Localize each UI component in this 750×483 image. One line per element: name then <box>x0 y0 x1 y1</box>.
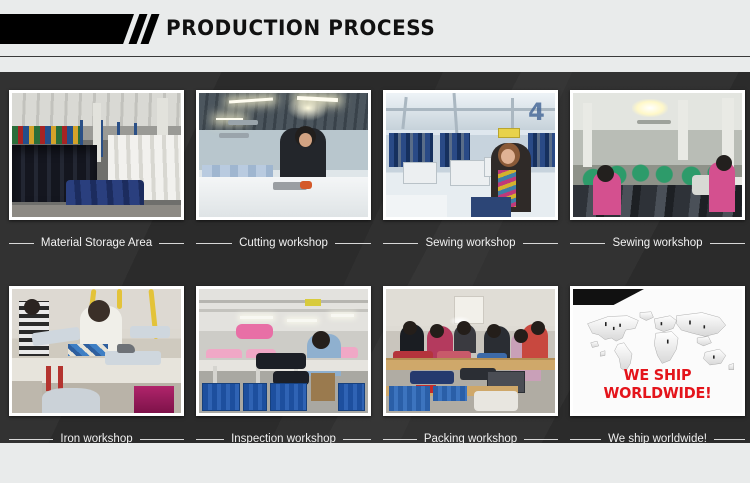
header-banner-shape <box>0 14 134 44</box>
caption-rule-right <box>343 439 371 440</box>
gallery-cell-iron-workshop[interactable]: Iron workshop <box>9 286 184 443</box>
caption-rule-right <box>140 439 184 440</box>
caption-label: Packing workshop <box>424 433 517 443</box>
corner-wedge <box>573 289 742 305</box>
caption-label: Iron workshop <box>60 433 132 443</box>
sewing-workshop-photo-1: 4 <box>386 93 555 217</box>
caption-label: Sewing workshop <box>425 237 515 249</box>
cutting-workshop-photo <box>199 93 368 217</box>
photo-frame[interactable] <box>383 286 558 416</box>
photo-frame[interactable] <box>570 90 745 220</box>
inspection-workshop-photo <box>199 289 368 413</box>
gallery-grid: Material Storage Area <box>0 72 750 443</box>
photo-frame[interactable]: WE SHIP WORLDWIDE! <box>570 286 745 416</box>
caption-rule-left <box>570 243 605 244</box>
gallery-row-2: Iron workshop <box>9 286 741 443</box>
caption-row: We ship worldwide! <box>570 425 745 443</box>
caption-rule-left <box>570 439 601 440</box>
caption-row: Cutting workshop <box>196 229 371 257</box>
material-storage-area-photo <box>12 93 181 217</box>
gallery-cell-cutting-workshop[interactable]: Cutting workshop <box>196 90 371 257</box>
caption-rule-right <box>524 439 558 440</box>
packing-workshop-photo <box>386 289 555 413</box>
caption-row: Iron workshop <box>9 425 184 443</box>
world-map-tagline: WE SHIP WORLDWIDE! <box>576 366 738 402</box>
page-header: PRODUCTION PROCESS <box>0 0 750 57</box>
gallery-cell-inspection-workshop[interactable]: Inspection workshop <box>196 286 371 443</box>
footer-spacer <box>0 443 750 483</box>
gallery-panel: Material Storage Area <box>0 72 750 443</box>
caption-label: We ship worldwide! <box>608 433 707 443</box>
caption-label: Cutting workshop <box>239 237 328 249</box>
caption-rule-right <box>714 439 745 440</box>
page-title: PRODUCTION PROCESS <box>166 13 435 43</box>
caption-rule-left <box>383 243 418 244</box>
caption-label: Sewing workshop <box>612 237 702 249</box>
header-divider <box>0 56 750 57</box>
caption-rule-right <box>710 243 745 244</box>
caption-row: Inspection workshop <box>196 425 371 443</box>
caption-label: Inspection workshop <box>231 433 336 443</box>
caption-rule-left <box>383 439 417 440</box>
gallery-row-1: Material Storage Area <box>9 90 741 257</box>
caption-rule-right <box>523 243 558 244</box>
caption-rule-left <box>196 439 224 440</box>
photo-frame[interactable] <box>9 90 184 220</box>
photo-frame[interactable]: 4 <box>383 90 558 220</box>
caption-row: Sewing workshop <box>570 229 745 257</box>
photo-frame[interactable] <box>196 90 371 220</box>
world-map-photo: WE SHIP WORLDWIDE! <box>573 289 742 413</box>
caption-rule-right <box>159 243 184 244</box>
caption-label: Material Storage Area <box>41 237 152 249</box>
caption-rule-left <box>9 243 34 244</box>
caption-row: Packing workshop <box>383 425 558 443</box>
gallery-cell-packing-workshop[interactable]: Packing workshop <box>383 286 558 443</box>
photo-frame[interactable] <box>9 286 184 416</box>
caption-rule-left <box>9 439 53 440</box>
iron-workshop-photo <box>12 289 181 413</box>
caption-row: Material Storage Area <box>9 229 184 257</box>
gallery-cell-sewing-workshop-1[interactable]: 4 Sew <box>383 90 558 257</box>
gallery-cell-material-storage[interactable]: Material Storage Area <box>9 90 184 257</box>
gallery-cell-we-ship-worldwide[interactable]: WE SHIP WORLDWIDE! We ship worldwide! <box>570 286 745 443</box>
sewing-workshop-photo-2 <box>573 93 742 217</box>
production-process-page: PRODUCTION PROCESS <box>0 0 750 483</box>
gallery-cell-sewing-workshop-2[interactable]: Sewing workshop <box>570 90 745 257</box>
caption-row: Sewing workshop <box>383 229 558 257</box>
caption-rule-left <box>196 243 232 244</box>
photo-frame[interactable] <box>196 286 371 416</box>
caption-rule-right <box>335 243 371 244</box>
